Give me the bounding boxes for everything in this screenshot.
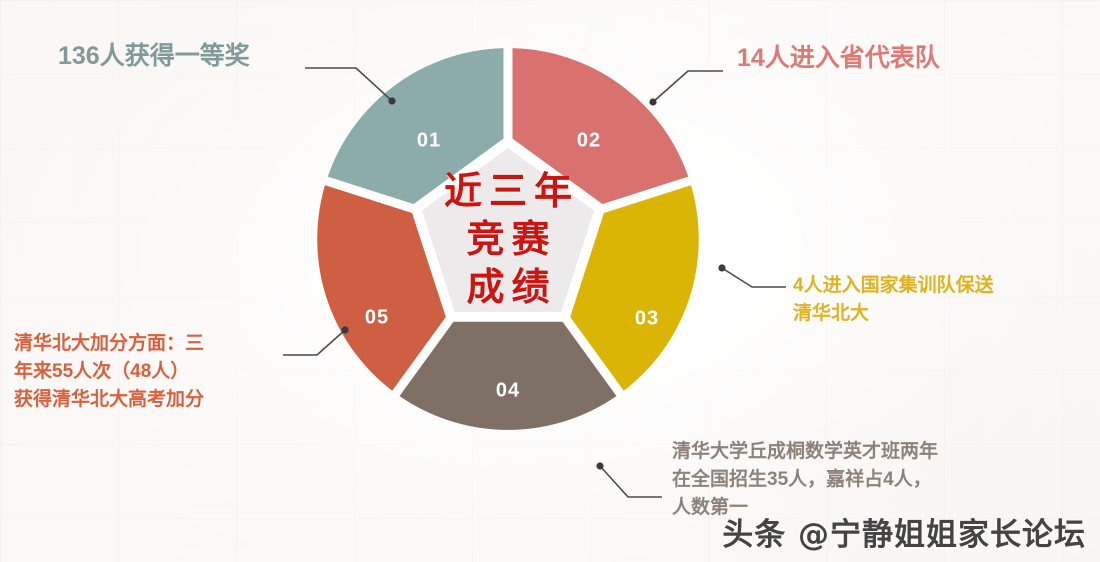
center-title: 近三年 竞赛 成绩 — [418, 167, 598, 311]
callout-label-01: 136人获得一等奖 — [58, 38, 250, 75]
infographic-stage: 01 02 03 04 05 近三年 竞赛 成绩 — [0, 0, 1100, 562]
segment-label-04: 04 — [496, 379, 520, 401]
pentagon-donut-chart: 01 02 03 04 05 近三年 竞赛 成绩 — [317, 48, 699, 430]
segment-label-02: 02 — [577, 129, 601, 151]
leader-dot-03 — [718, 264, 725, 271]
leader-line-04 — [600, 466, 662, 497]
leader-line-03 — [722, 268, 786, 287]
callout-label-05: 清华北大加分方面：三 年来55人次（48人） 获得清华北大高考加分 — [14, 330, 204, 414]
segment-label-05: 05 — [365, 306, 389, 328]
segment-label-03: 03 — [635, 307, 659, 329]
center-title-line-2: 竞赛 — [418, 215, 598, 263]
segment-label-01: 01 — [417, 129, 441, 151]
callout-label-02: 14人进入省代表队 — [737, 40, 940, 77]
center-title-line-1: 近三年 — [418, 167, 598, 215]
leader-dot-04 — [596, 462, 603, 469]
callout-label-03: 4人进入国家集训队保送 清华北大 — [793, 272, 994, 328]
watermark: 头条 @宁静姐姐家长论坛 — [722, 509, 1086, 554]
center-title-line-3: 成绩 — [418, 263, 598, 311]
